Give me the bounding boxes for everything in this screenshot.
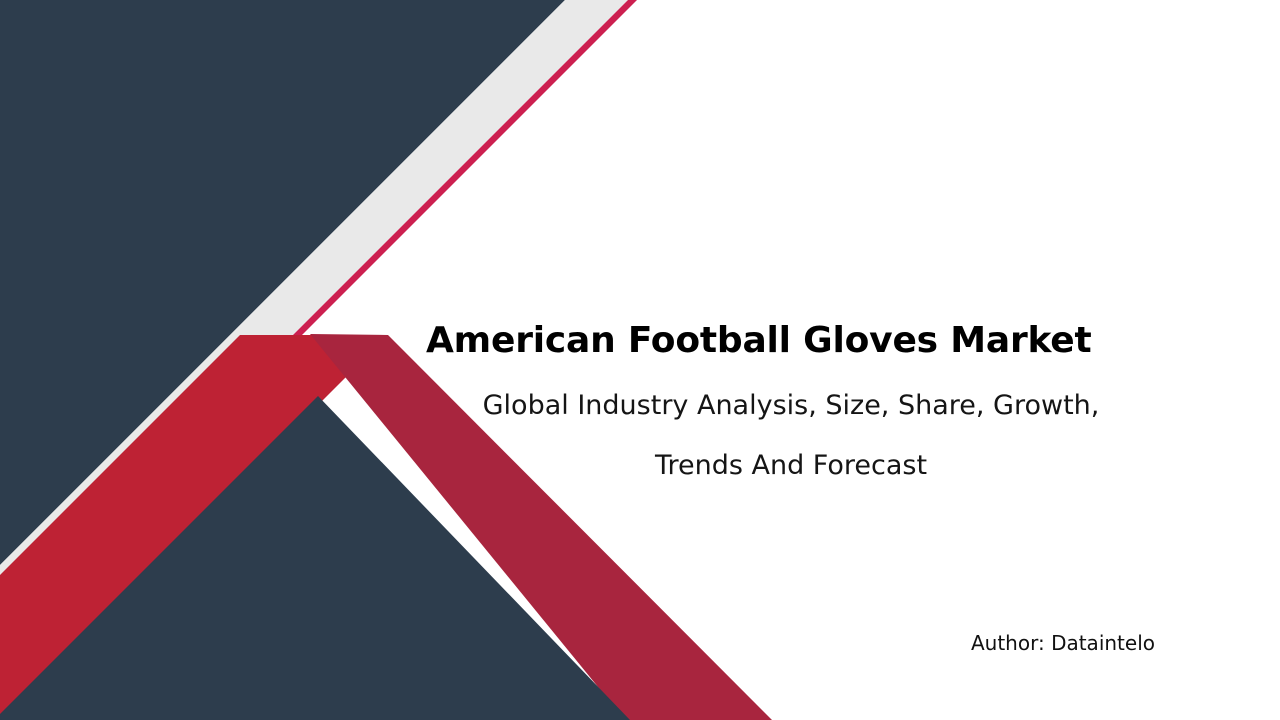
slide-canvas: American Football Gloves Market Global I… — [0, 0, 1280, 720]
page-title: American Football Gloves Market — [426, 320, 1156, 361]
subtitle-line-1: Global Industry Analysis, Size, Share, G… — [396, 376, 1186, 436]
text-layer: American Football Gloves Market Global I… — [0, 0, 1280, 720]
page-subtitle: Global Industry Analysis, Size, Share, G… — [396, 376, 1186, 496]
subtitle-line-2: Trends And Forecast — [396, 436, 1186, 496]
author-credit: Author: Dataintelo — [790, 631, 1155, 655]
